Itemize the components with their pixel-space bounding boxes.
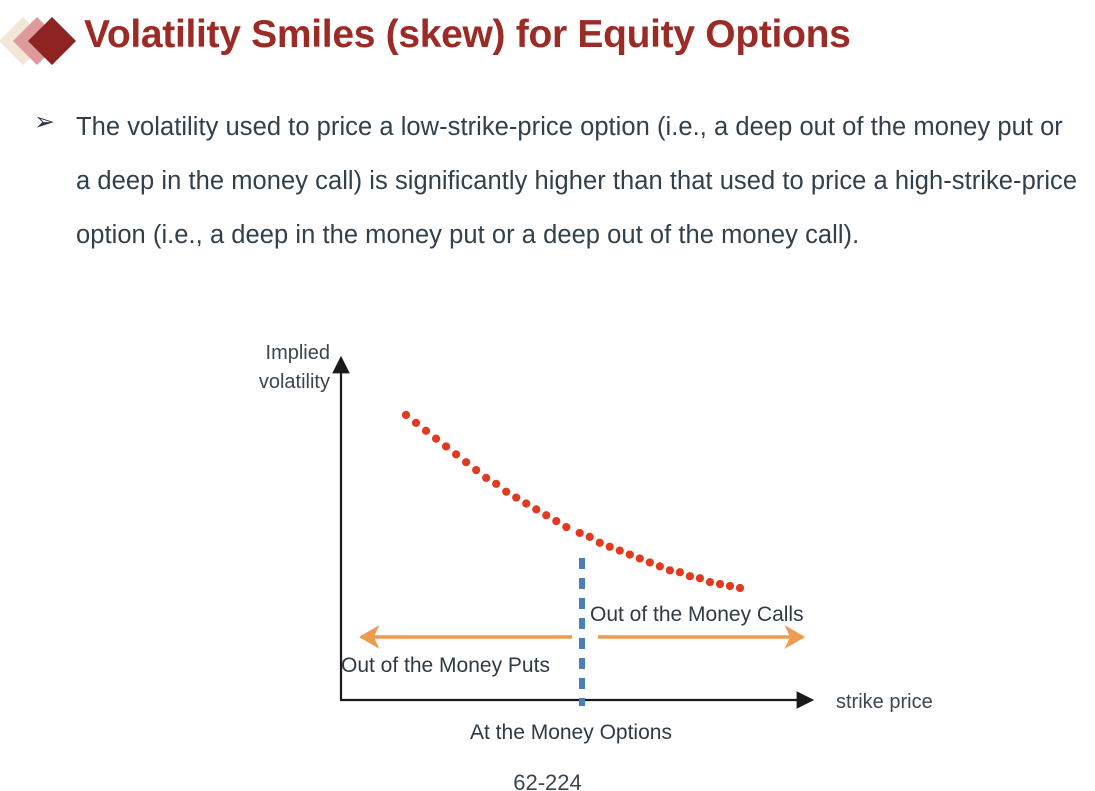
y-axis-label-line1: Implied <box>266 342 330 364</box>
curve-point <box>736 584 744 592</box>
curve-point <box>472 466 480 474</box>
curve-point <box>442 442 450 450</box>
curve-point <box>532 505 540 513</box>
y-axis-label-line2: volatility <box>259 371 330 393</box>
at-the-money-label: At the Money Options <box>470 721 672 744</box>
curve-point <box>696 574 704 582</box>
curve-point <box>676 568 684 576</box>
diamond-stack-icon <box>4 12 84 70</box>
curve-point <box>542 511 550 519</box>
curve-point <box>402 411 410 419</box>
chart-canvas: Implied volatility strike price Out of t… <box>0 330 1095 760</box>
arrow-bullet-icon: ➢ <box>28 100 76 144</box>
curve-point <box>716 580 724 588</box>
curve-point <box>596 539 604 547</box>
bullet-list-item: ➢ The volatility used to price a low-str… <box>28 100 1083 262</box>
curve-point <box>552 517 560 525</box>
curve-point <box>706 578 714 586</box>
bullet-paragraph: The volatility used to price a low-strik… <box>76 100 1083 262</box>
page-number: 62-224 <box>0 770 1095 791</box>
curve-point <box>626 550 634 558</box>
curve-point <box>422 427 430 435</box>
page-title: Volatility Smiles (skew) for Equity Opti… <box>84 12 851 59</box>
curve-point <box>512 493 520 501</box>
curve-point <box>452 450 460 458</box>
curve-point <box>666 566 674 574</box>
curve-point <box>656 562 664 570</box>
curve-point <box>462 458 470 466</box>
curve-point <box>576 529 584 537</box>
implied-volatility-curve <box>402 411 744 592</box>
bullet-block: ➢ The volatility used to price a low-str… <box>28 100 1083 262</box>
otm-calls-label: Out of the Money Calls <box>590 603 804 626</box>
curve-point <box>686 572 694 580</box>
curve-point <box>606 543 614 551</box>
curve-point <box>616 547 624 555</box>
slide-header: Volatility Smiles (skew) for Equity Opti… <box>0 0 1095 86</box>
curve-point <box>482 474 490 482</box>
curve-point <box>646 558 654 566</box>
volatility-skew-chart: Implied volatility strike price Out of t… <box>0 330 1095 760</box>
curve-point <box>492 480 500 488</box>
x-axis-label: strike price <box>836 691 933 713</box>
curve-point <box>412 419 420 427</box>
curve-point <box>522 499 530 507</box>
otm-puts-label: Out of the Money Puts <box>341 654 550 677</box>
curve-point <box>432 434 440 442</box>
curve-point <box>726 582 734 590</box>
curve-point <box>636 554 644 562</box>
curve-point <box>502 488 510 496</box>
curve-point <box>586 533 594 541</box>
curve-point <box>562 523 570 531</box>
